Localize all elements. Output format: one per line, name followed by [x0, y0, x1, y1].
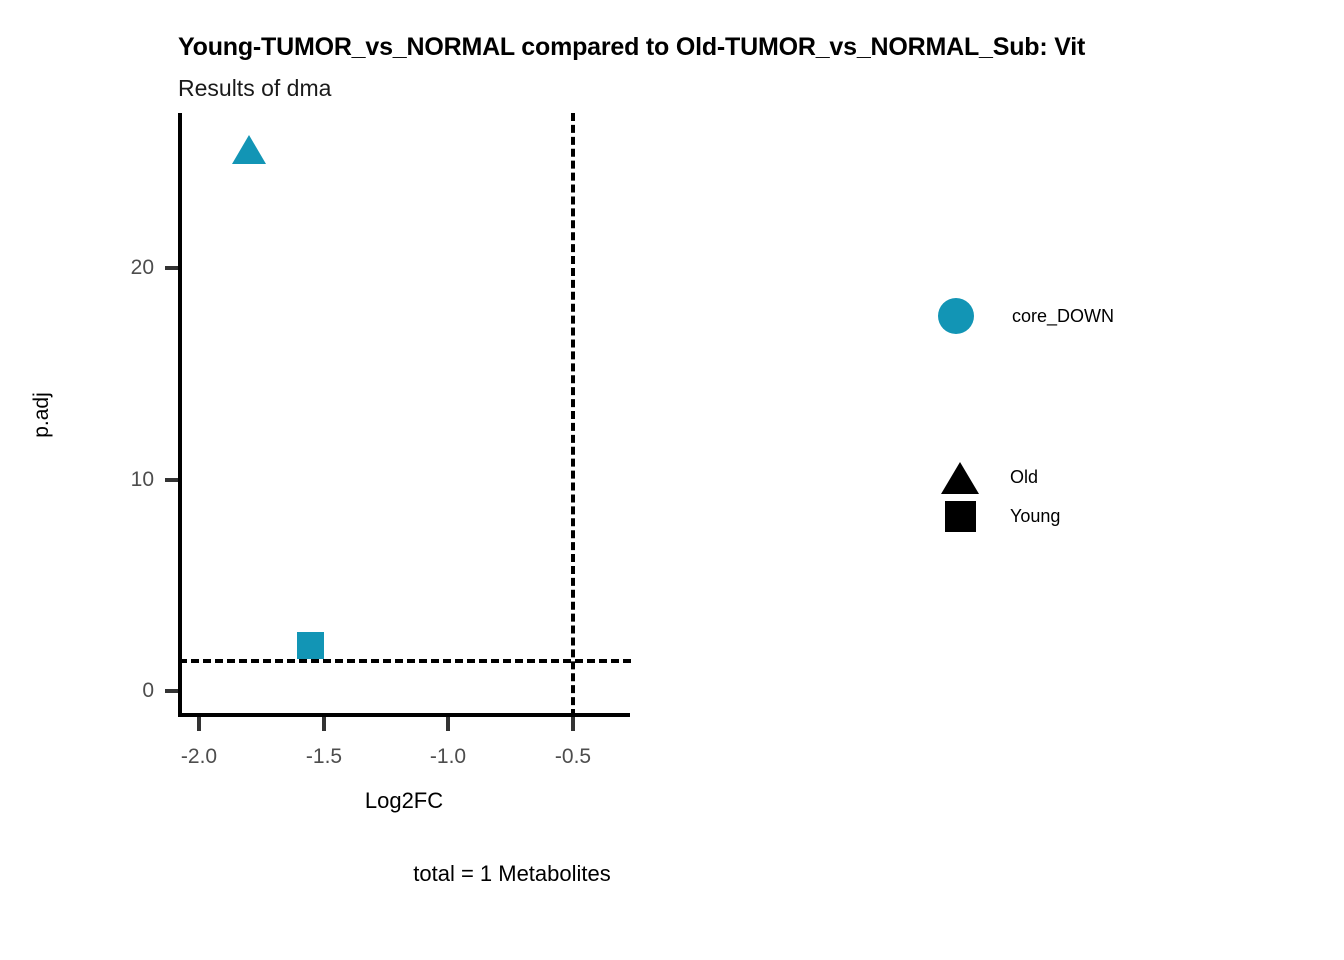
- y-tick-mark-0: [165, 689, 178, 693]
- x-tick-label-neg2: -2.0: [181, 745, 217, 769]
- log2fc-threshold-line: [571, 113, 575, 717]
- legend-shape-label-old: Old: [1010, 467, 1038, 488]
- legend-color-item-core-down[interactable]: core_DOWN: [938, 294, 1114, 338]
- legend-shape-label-young: Young: [1010, 506, 1060, 527]
- legend-color-label: core_DOWN: [1012, 306, 1114, 327]
- x-tick-label-neg05: -0.5: [555, 745, 591, 769]
- data-point-old[interactable]: [232, 135, 266, 164]
- x-axis-label: Log2FC: [365, 788, 443, 814]
- triangle-icon: [938, 462, 982, 494]
- volcano-plot: Young-TUMOR_vs_NORMAL compared to Old-TU…: [0, 0, 1344, 960]
- data-point-young[interactable]: [297, 632, 324, 659]
- legend-shape-item-young[interactable]: Young: [938, 497, 1060, 536]
- legend-shape-group: Old Young: [938, 458, 1060, 536]
- y-axis-line: [178, 113, 182, 717]
- y-tick-mark-20: [165, 266, 178, 270]
- circle-icon: [938, 298, 974, 334]
- x-tick-mark-neg15: [322, 717, 326, 731]
- y-axis-label: p.adj: [30, 392, 54, 438]
- x-tick-label-neg15: -1.5: [306, 745, 342, 769]
- x-tick-mark-neg2: [197, 717, 201, 731]
- x-axis-line: [178, 713, 630, 717]
- legend-shape-item-old[interactable]: Old: [938, 458, 1060, 497]
- x-tick-mark-neg05: [571, 717, 575, 731]
- y-tick-label-0: 0: [142, 679, 154, 703]
- y-tick-label-20: 20: [131, 256, 154, 280]
- square-icon: [938, 501, 982, 532]
- x-tick-mark-neg1: [446, 717, 450, 731]
- y-tick-label-10: 10: [131, 468, 154, 492]
- padj-threshold-line: [179, 659, 631, 663]
- page-title: Young-TUMOR_vs_NORMAL compared to Old-TU…: [178, 33, 1085, 62]
- x-tick-label-neg1: -1.0: [430, 745, 466, 769]
- y-tick-mark-10: [165, 478, 178, 482]
- plot-caption: total = 1 Metabolites: [413, 861, 611, 887]
- plot-subtitle: Results of dma: [178, 75, 331, 102]
